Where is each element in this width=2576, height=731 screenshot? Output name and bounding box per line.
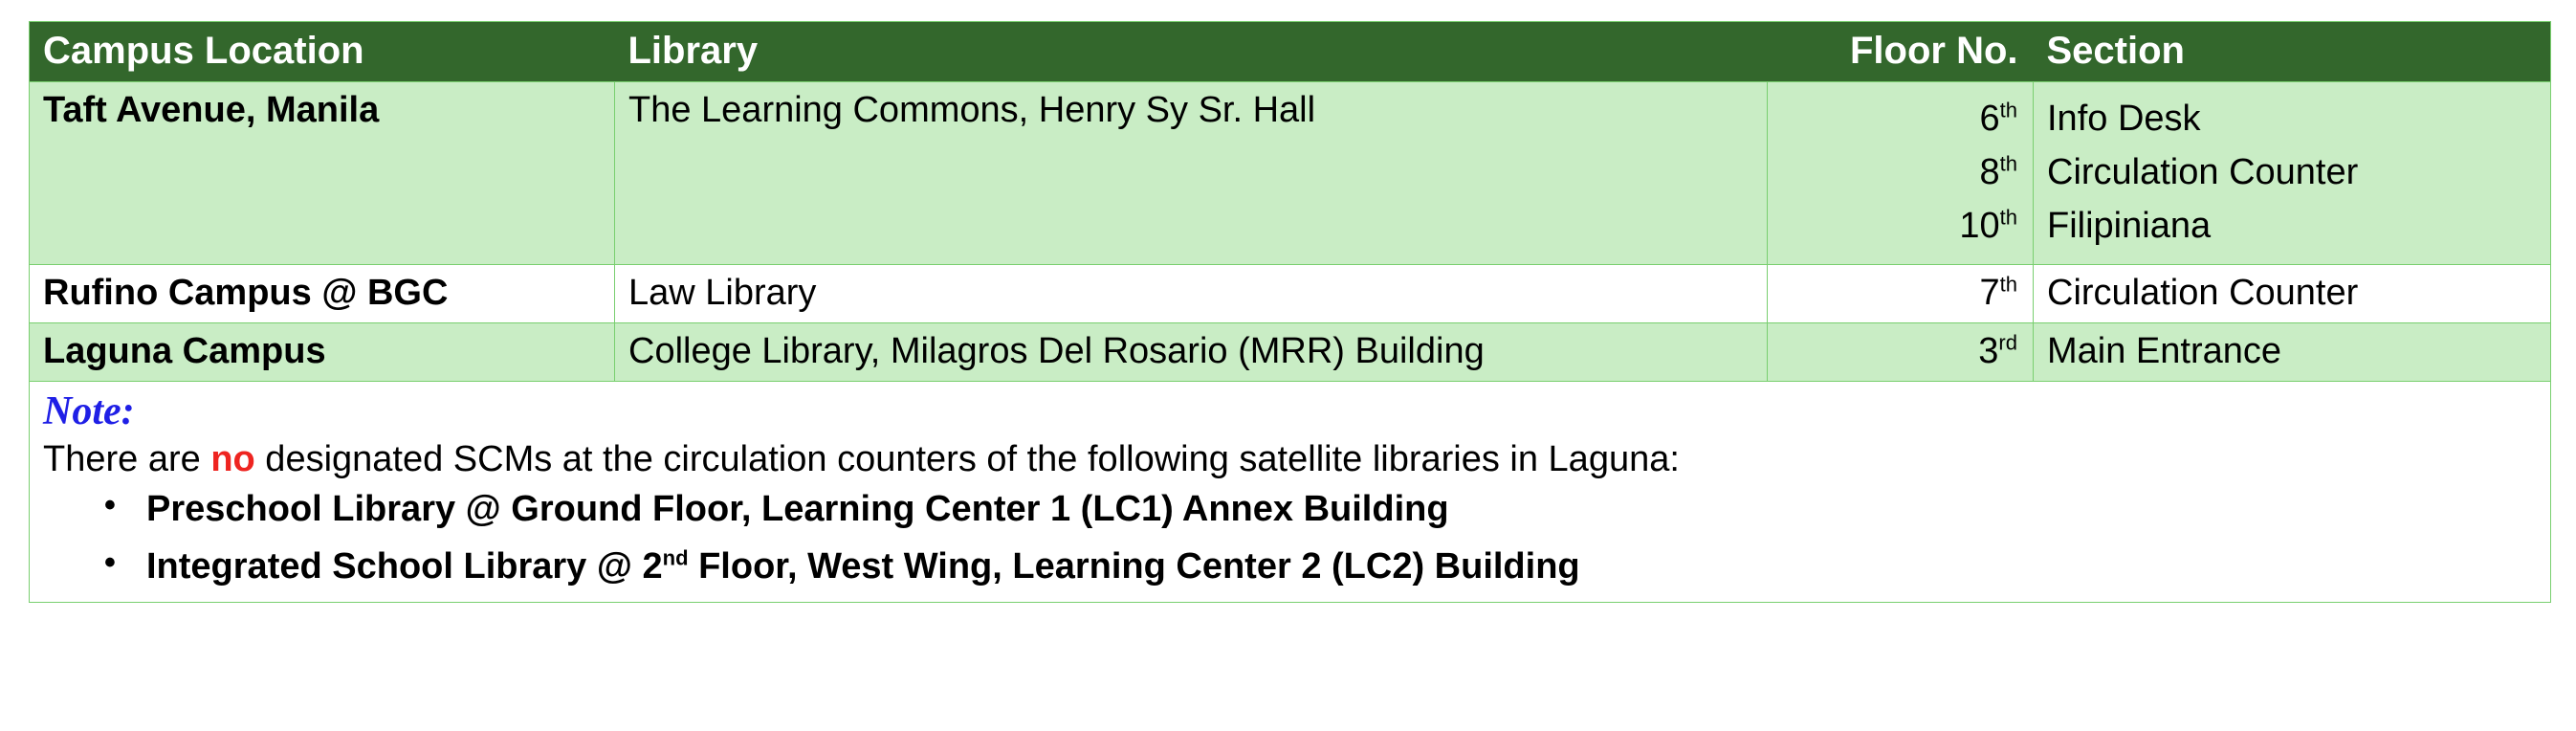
library-info-table: Campus Location Library Floor No. Sectio… [29,21,2551,603]
note-body-emphasis: no [210,439,254,479]
section-entry: Filipiniana [2047,199,2537,253]
cell-campus-location: Taft Avenue, Manila [30,82,615,265]
floor-ordinal-suffix: rd [1998,330,2017,354]
cell-campus-location: Laguna Campus [30,323,615,382]
list-item: Preschool Library @ Ground Floor, Learni… [146,491,2537,527]
table-row: Rufino Campus @ BGC Law Library 7th Circ… [30,265,2551,323]
floor-number: 10 [1959,206,1999,246]
note-body-before: There are [43,439,210,479]
cell-campus-location: Rufino Campus @ BGC [30,265,615,323]
note-title: Note: [43,389,2537,434]
cell-floor-no: 6th 8th 10th [1768,82,2034,265]
list-item: Integrated School Library @ 2nd Floor, W… [146,548,2537,585]
floor-ordinal-suffix: th [2000,151,2017,175]
cell-library: Law Library [615,265,1768,323]
cell-section: Main Entrance [2034,323,2551,382]
floor-ordinal-suffix: th [2000,98,2017,122]
section-entry: Circulation Counter [2047,145,2537,199]
cell-section: Info Desk Circulation Counter Filipinian… [2034,82,2551,265]
table-row: Laguna Campus College Library, Milagros … [30,323,2551,382]
column-header-floor-no: Floor No. [1768,22,2034,82]
floor-ordinal-suffix: th [2000,205,2017,229]
table-header-row: Campus Location Library Floor No. Sectio… [30,22,2551,82]
bullet-text-after: Floor, West Wing, Learning Center 2 (LC2… [689,546,1580,587]
column-header-campus-location: Campus Location [30,22,615,82]
note-body-after: designated SCMs at the circulation count… [255,439,1680,479]
bullet-text-before: Integrated School Library @ 2 [146,546,663,587]
document-page: Campus Location Library Floor No. Sectio… [0,0,2576,731]
column-header-library: Library [615,22,1768,82]
cell-library: College Library, Milagros Del Rosario (M… [615,323,1768,382]
floor-number: 7 [1979,273,1999,313]
floor-entry: 6th [1781,92,2017,145]
library-info-table-wrapper: Campus Location Library Floor No. Sectio… [29,21,2550,603]
bullet-text-before: Preschool Library @ Ground Floor, Learni… [146,489,1449,529]
cell-floor-no: 3rd [1768,323,2034,382]
note-cell: Note: There are no designated SCMs at th… [30,382,2551,603]
floor-number: 3 [1978,331,1998,371]
note-body: There are no designated SCMs at the circ… [43,436,2537,483]
column-header-section: Section [2034,22,2551,82]
bullet-ordinal-suffix: nd [663,545,689,569]
floor-ordinal-suffix: th [2000,272,2017,296]
floor-entry: 10th [1781,199,2017,253]
floor-number: 6 [1979,99,1999,139]
floor-number: 8 [1979,152,1999,192]
cell-floor-no: 7th [1768,265,2034,323]
note-row: Note: There are no designated SCMs at th… [30,382,2551,603]
table-row: Taft Avenue, Manila The Learning Commons… [30,82,2551,265]
note-bullet-list: Preschool Library @ Ground Floor, Learni… [43,491,2537,585]
cell-section: Circulation Counter [2034,265,2551,323]
table-header: Campus Location Library Floor No. Sectio… [30,22,2551,82]
floor-entry: 8th [1781,145,2017,199]
table-body: Taft Avenue, Manila The Learning Commons… [30,82,2551,603]
section-entry: Info Desk [2047,92,2537,145]
cell-library: The Learning Commons, Henry Sy Sr. Hall [615,82,1768,265]
